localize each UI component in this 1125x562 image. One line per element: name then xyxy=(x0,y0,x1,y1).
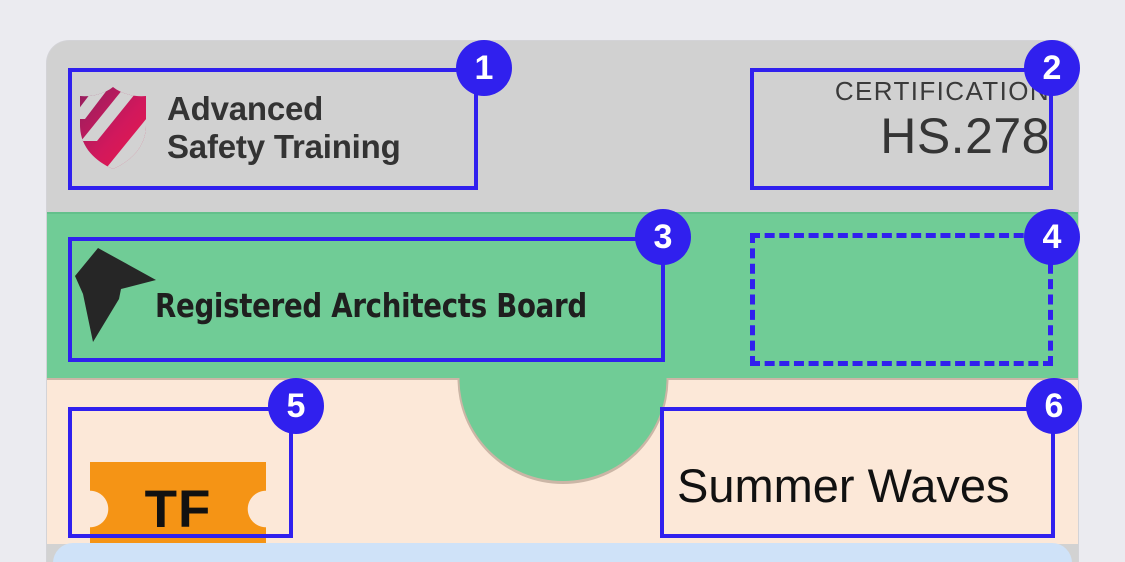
annotation-badge-5[interactable]: 5 xyxy=(268,378,324,434)
annotation-badge-2[interactable]: 2 xyxy=(1024,40,1080,96)
annotation-badge-5-label: 5 xyxy=(287,387,306,426)
annotation-box-2 xyxy=(750,68,1053,190)
annotation-badge-3[interactable]: 3 xyxy=(635,209,691,265)
annotation-box-3 xyxy=(68,237,665,362)
annotation-box-1 xyxy=(68,68,478,190)
annotation-badge-2-label: 2 xyxy=(1043,49,1062,88)
annotation-badge-3-label: 3 xyxy=(654,218,673,257)
annotation-badge-4-label: 4 xyxy=(1043,218,1062,257)
annotation-badge-1-label: 1 xyxy=(475,49,494,88)
screenshot-stage: Advanced Safety Training CERTIFICATION H… xyxy=(0,0,1125,562)
annotation-badge-6-label: 6 xyxy=(1045,387,1064,426)
annotation-badge-6[interactable]: 6 xyxy=(1026,378,1082,434)
annotation-box-5 xyxy=(68,407,293,538)
annotation-box-4 xyxy=(750,233,1053,366)
blue-band xyxy=(53,543,1072,562)
annotation-badge-1[interactable]: 1 xyxy=(456,40,512,96)
annotation-box-6 xyxy=(660,407,1055,538)
annotation-badge-4[interactable]: 4 xyxy=(1024,209,1080,265)
